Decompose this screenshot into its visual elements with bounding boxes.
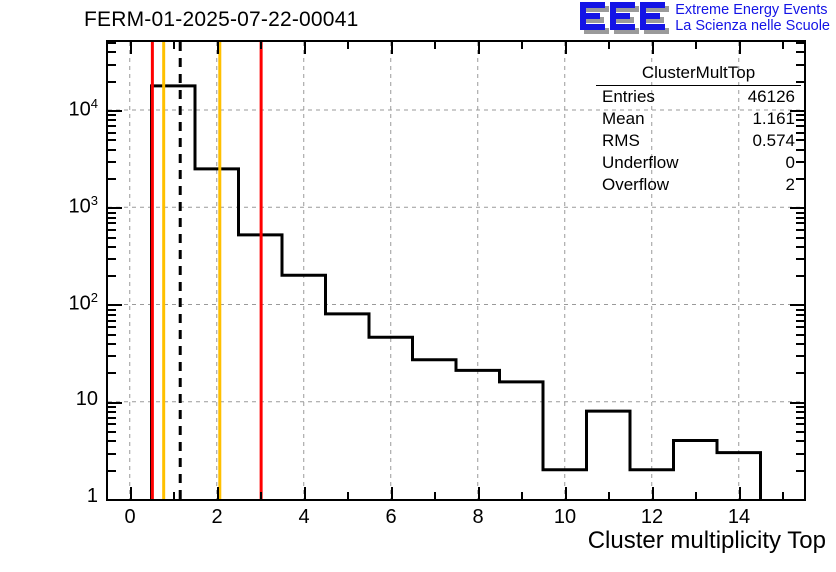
stats-row-key: Overflow: [602, 174, 669, 196]
y-axis-minor-tick-right: [796, 246, 804, 248]
x-axis-minor-tick-top: [521, 42, 523, 49]
y-axis-minor-tick: [108, 64, 116, 66]
y-axis-minor-tick: [108, 423, 116, 425]
stats-row-value: 0.574: [752, 130, 795, 152]
x-axis-minor-tick-top: [434, 42, 436, 49]
x-axis-major-tick-top: [304, 42, 306, 54]
y-axis-minor-tick: [108, 372, 116, 374]
y-axis-minor-tick-right: [796, 470, 804, 472]
stats-row: RMS0.574: [596, 130, 801, 152]
x-axis-major-tick-top: [478, 42, 480, 54]
x-axis-minor-tick-top: [782, 42, 784, 49]
y-axis-minor-tick-right: [796, 222, 804, 224]
x-axis-major-tick: [739, 487, 741, 499]
stats-box-title: ClusterMultTop: [596, 62, 801, 86]
y-axis-minor-tick: [108, 222, 116, 224]
stats-row-key: Entries: [602, 86, 655, 108]
y-axis-minor-tick: [108, 258, 116, 260]
stats-row: Mean1.161: [596, 108, 801, 130]
y-axis-major-tick: [108, 304, 122, 306]
y-axis-minor-tick: [108, 51, 116, 53]
y-axis-major-tick-right: [790, 207, 804, 209]
x-axis-tick-label: 4: [274, 506, 334, 529]
y-axis-minor-tick: [108, 431, 116, 433]
y-axis-tick-label: 104: [0, 96, 98, 122]
stats-row-value: 2: [786, 174, 795, 196]
root-canvas: FERM-01-2025-07-22-00041: [0, 0, 836, 572]
y-axis-minor-tick: [108, 161, 116, 163]
y-axis-major-tick-right: [790, 304, 804, 306]
y-axis-minor-tick: [108, 81, 116, 83]
y-axis-minor-tick-right: [796, 320, 804, 322]
stats-row-key: Mean: [602, 108, 645, 130]
x-axis-major-tick-top: [739, 42, 741, 54]
y-axis-minor-tick-right: [796, 343, 804, 345]
x-axis-minor-tick: [521, 492, 523, 499]
y-axis-minor-tick: [108, 132, 116, 134]
x-axis-minor-tick: [173, 492, 175, 499]
y-axis-minor-tick: [108, 217, 116, 219]
y-axis-major-tick: [108, 207, 122, 209]
y-axis-minor-tick: [108, 246, 116, 248]
x-axis-tick-label: 6: [361, 506, 421, 529]
y-axis-minor-tick-right: [796, 423, 804, 425]
y-axis-minor-tick: [108, 42, 116, 44]
x-axis-major-tick: [565, 487, 567, 499]
x-axis-tick-label: 10: [535, 506, 595, 529]
stats-row-value: 0: [786, 152, 795, 174]
y-axis-minor-tick: [108, 119, 116, 121]
y-axis-minor-tick-right: [796, 314, 804, 316]
x-axis-minor-tick-top: [695, 42, 697, 49]
y-axis-minor-tick: [108, 440, 116, 442]
y-axis-minor-tick: [108, 125, 116, 127]
x-axis-major-tick-top: [217, 42, 219, 54]
y-axis-minor-tick: [108, 453, 116, 455]
stats-row-value: 1.161: [752, 108, 795, 130]
y-axis-minor-tick-right: [796, 431, 804, 433]
y-axis-minor-tick: [108, 229, 116, 231]
y-axis-minor-tick: [108, 334, 116, 336]
y-axis-minor-tick: [108, 275, 116, 277]
y-axis-tick-label: 102: [0, 290, 98, 316]
stats-box: ClusterMultTop Entries46126Mean1.161RMS0…: [596, 62, 801, 196]
y-axis-minor-tick: [108, 237, 116, 239]
x-axis-minor-tick: [434, 492, 436, 499]
y-axis-minor-tick: [108, 343, 116, 345]
y-axis-minor-tick-right: [796, 212, 804, 214]
x-axis-major-tick-top: [130, 42, 132, 54]
y-axis-minor-tick-right: [796, 217, 804, 219]
stats-box-rows: Entries46126Mean1.161RMS0.574Underflow0O…: [596, 86, 801, 196]
y-axis-tick-label: 10: [0, 388, 98, 411]
y-axis-minor-tick: [108, 326, 116, 328]
y-axis-minor-tick-right: [796, 229, 804, 231]
y-axis-minor-tick: [108, 355, 116, 357]
y-axis-major-tick-right: [790, 499, 804, 501]
x-axis-minor-tick-top: [173, 42, 175, 49]
x-axis-major-tick-top: [565, 42, 567, 54]
y-axis-minor-tick-right: [796, 406, 804, 408]
x-axis-tick-label: 8: [448, 506, 508, 529]
x-axis-tick-label: 12: [622, 506, 682, 529]
stats-row: Overflow2: [596, 174, 801, 196]
x-axis-minor-tick: [608, 492, 610, 499]
y-axis-minor-tick: [108, 417, 116, 419]
y-axis-minor-tick: [108, 178, 116, 180]
x-axis-tick-label: 2: [187, 506, 247, 529]
x-axis-minor-tick: [695, 492, 697, 499]
y-axis-minor-tick-right: [796, 372, 804, 374]
x-axis-minor-tick-top: [260, 42, 262, 49]
x-axis-major-tick-top: [391, 42, 393, 54]
y-axis-minor-tick: [108, 309, 116, 311]
y-axis-minor-tick-right: [796, 42, 804, 44]
y-axis-tick-label: 103: [0, 193, 98, 219]
x-axis-major-tick-top: [652, 42, 654, 54]
stats-row: Entries46126: [596, 86, 801, 108]
y-axis-major-tick-right: [790, 402, 804, 404]
y-axis-minor-tick: [108, 320, 116, 322]
y-axis-minor-tick-right: [796, 411, 804, 413]
y-axis-minor-tick-right: [796, 334, 804, 336]
y-axis-minor-tick: [108, 406, 116, 408]
x-axis-tick-label: 14: [709, 506, 769, 529]
y-axis-minor-tick-right: [796, 309, 804, 311]
x-axis-title: Cluster multiplicity Top: [588, 527, 826, 555]
y-axis-minor-tick: [108, 411, 116, 413]
x-axis-tick-label: 0: [100, 506, 160, 529]
y-axis-minor-tick: [108, 212, 116, 214]
x-axis-minor-tick: [260, 492, 262, 499]
y-axis-minor-tick: [108, 139, 116, 141]
x-axis-major-tick: [652, 487, 654, 499]
x-axis-major-tick: [217, 487, 219, 499]
y-axis-minor-tick-right: [796, 355, 804, 357]
y-axis-minor-tick-right: [796, 326, 804, 328]
x-axis-minor-tick-top: [608, 42, 610, 49]
x-axis-minor-tick: [782, 492, 784, 499]
y-axis-major-tick: [108, 110, 122, 112]
x-axis-major-tick: [391, 487, 393, 499]
y-axis-minor-tick: [108, 149, 116, 151]
y-axis-major-tick: [108, 499, 122, 501]
stats-row-value: 46126: [748, 86, 795, 108]
y-axis-minor-tick-right: [796, 51, 804, 53]
y-axis-major-tick: [108, 402, 122, 404]
y-axis-minor-tick: [108, 314, 116, 316]
x-axis-minor-tick-top: [347, 42, 349, 49]
y-axis-minor-tick: [108, 114, 116, 116]
y-axis-minor-tick-right: [796, 453, 804, 455]
x-axis-major-tick: [130, 487, 132, 499]
x-axis-minor-tick: [347, 492, 349, 499]
y-axis-minor-tick-right: [796, 417, 804, 419]
stats-row-key: Underflow: [602, 152, 679, 174]
x-axis-major-tick: [478, 487, 480, 499]
y-axis-minor-tick-right: [796, 237, 804, 239]
y-axis-minor-tick-right: [796, 258, 804, 260]
stats-row: Underflow0: [596, 152, 801, 174]
x-axis-major-tick: [304, 487, 306, 499]
y-axis-minor-tick-right: [796, 440, 804, 442]
stats-row-key: RMS: [602, 130, 640, 152]
y-axis-tick-label: 1: [0, 485, 98, 508]
y-axis-minor-tick-right: [796, 275, 804, 277]
y-axis-minor-tick: [108, 470, 116, 472]
